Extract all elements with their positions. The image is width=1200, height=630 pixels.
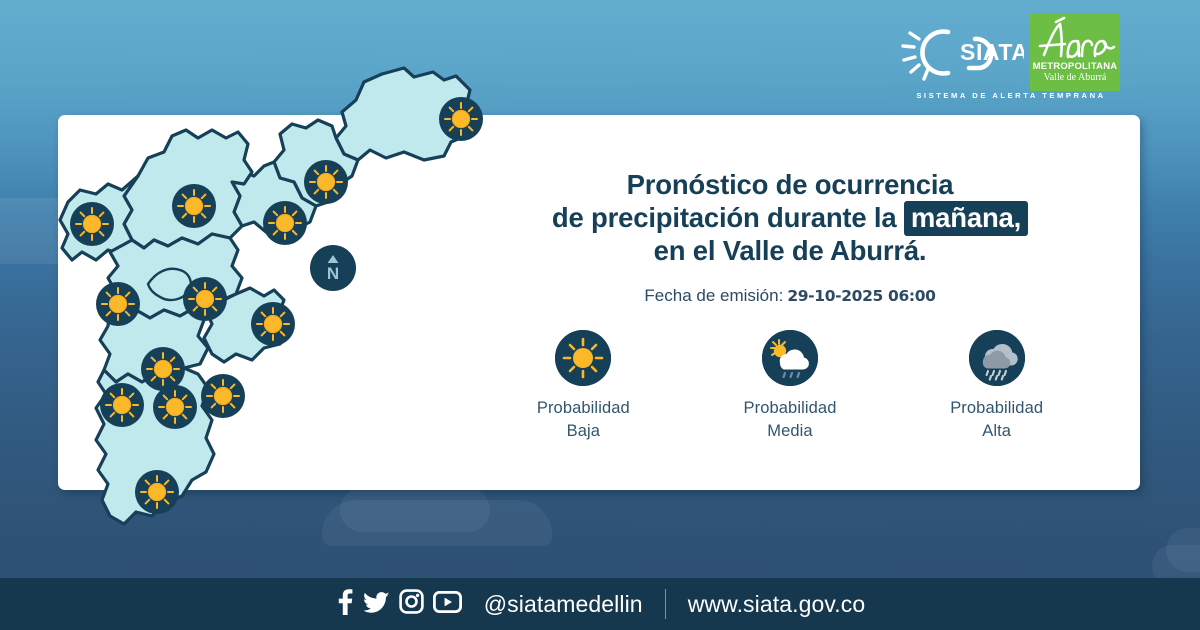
legend-label-alta-line1: Probabilidad <box>950 397 1043 420</box>
legend-label-media-line2: Media <box>744 420 837 443</box>
svg-text:SIATA: SIATA <box>960 39 1024 65</box>
map-marker-baja[interactable] <box>100 383 144 427</box>
legend-label-media-line1: Probabilidad <box>744 397 837 420</box>
legend-label-baja-line2: Baja <box>537 420 630 443</box>
legend-item-baja[interactable]: Probabilidad Baja <box>480 330 687 443</box>
youtube-icon[interactable] <box>433 591 462 618</box>
map-marker-baja[interactable] <box>251 302 295 346</box>
map-marker-baja[interactable] <box>201 374 245 418</box>
map-marker-baja[interactable] <box>153 385 197 429</box>
sun-cloud-rain-icon <box>762 330 818 386</box>
issue-date-value: 29-10-2025 06:00 <box>787 287 935 305</box>
legend-label-alta: Probabilidad Alta <box>950 397 1043 443</box>
instagram-icon[interactable] <box>399 589 424 619</box>
headline-line-2: de precipitación durante la mañana, <box>470 201 1110 234</box>
valle-de-aburra-map[interactable]: N <box>52 34 482 574</box>
page-title: Pronóstico de ocurrencia de precipitació… <box>470 168 1110 267</box>
cloud-rain-icon <box>969 330 1025 386</box>
facebook-icon[interactable] <box>335 589 355 620</box>
headline-line-3: en el Valle de Aburrá. <box>470 234 1110 267</box>
map-marker-baja[interactable] <box>263 201 307 245</box>
svg-text:N: N <box>327 264 339 283</box>
footer-divider <box>665 589 666 619</box>
map-marker-baja[interactable] <box>439 97 483 141</box>
social-links <box>335 589 462 620</box>
legend-label-baja-line1: Probabilidad <box>537 397 630 420</box>
legend-label-media: Probabilidad Media <box>744 397 837 443</box>
legend-label-baja: Probabilidad Baja <box>537 397 630 443</box>
north-arrow-icon: N <box>310 245 356 291</box>
social-handle[interactable]: @siatamedellin <box>484 591 643 618</box>
area-line2: Valle de Aburrá <box>1044 72 1107 84</box>
headline-highlight: mañana, <box>904 201 1028 236</box>
map-marker-baja[interactable] <box>96 282 140 326</box>
siata-tagline: SISTEMA DE ALERTA TEMPRANA <box>898 91 1124 100</box>
headline-line-2-text: de precipitación durante la <box>552 202 904 233</box>
map-marker-baja[interactable] <box>172 184 216 228</box>
legend-item-alta[interactable]: Probabilidad Alta <box>893 330 1100 443</box>
twitter-icon[interactable] <box>364 589 390 620</box>
map-marker-baja[interactable] <box>304 160 348 204</box>
siata-sun-cloud-icon: SIATA <box>898 19 1024 85</box>
probability-legend: Probabilidad Baja <box>480 330 1100 443</box>
legend-label-alta-line2: Alta <box>950 420 1043 443</box>
area-metropolitana-logo: METROPOLITANA Valle de Aburrá <box>1030 13 1120 91</box>
issue-date: Fecha de emisión:29-10-2025 06:00 <box>470 286 1110 306</box>
footer-bar: @siatamedellin www.siata.gov.co <box>0 578 1200 630</box>
headline-line-1: Pronóstico de ocurrencia <box>470 168 1110 201</box>
map-marker-baja[interactable] <box>183 277 227 321</box>
map-marker-baja[interactable] <box>135 470 179 514</box>
issue-date-label: Fecha de emisión: <box>644 286 783 305</box>
legend-item-media[interactable]: Probabilidad Media <box>687 330 894 443</box>
siata-logo[interactable]: SIATA METROPOLITANA <box>898 16 1124 106</box>
map-marker-baja[interactable] <box>70 202 114 246</box>
infographic-stage: SIATA METROPOLITANA <box>0 0 1200 630</box>
area-line1: METROPOLITANA <box>1033 61 1118 72</box>
sun-icon <box>555 330 611 386</box>
website-url[interactable]: www.siata.gov.co <box>688 591 866 618</box>
